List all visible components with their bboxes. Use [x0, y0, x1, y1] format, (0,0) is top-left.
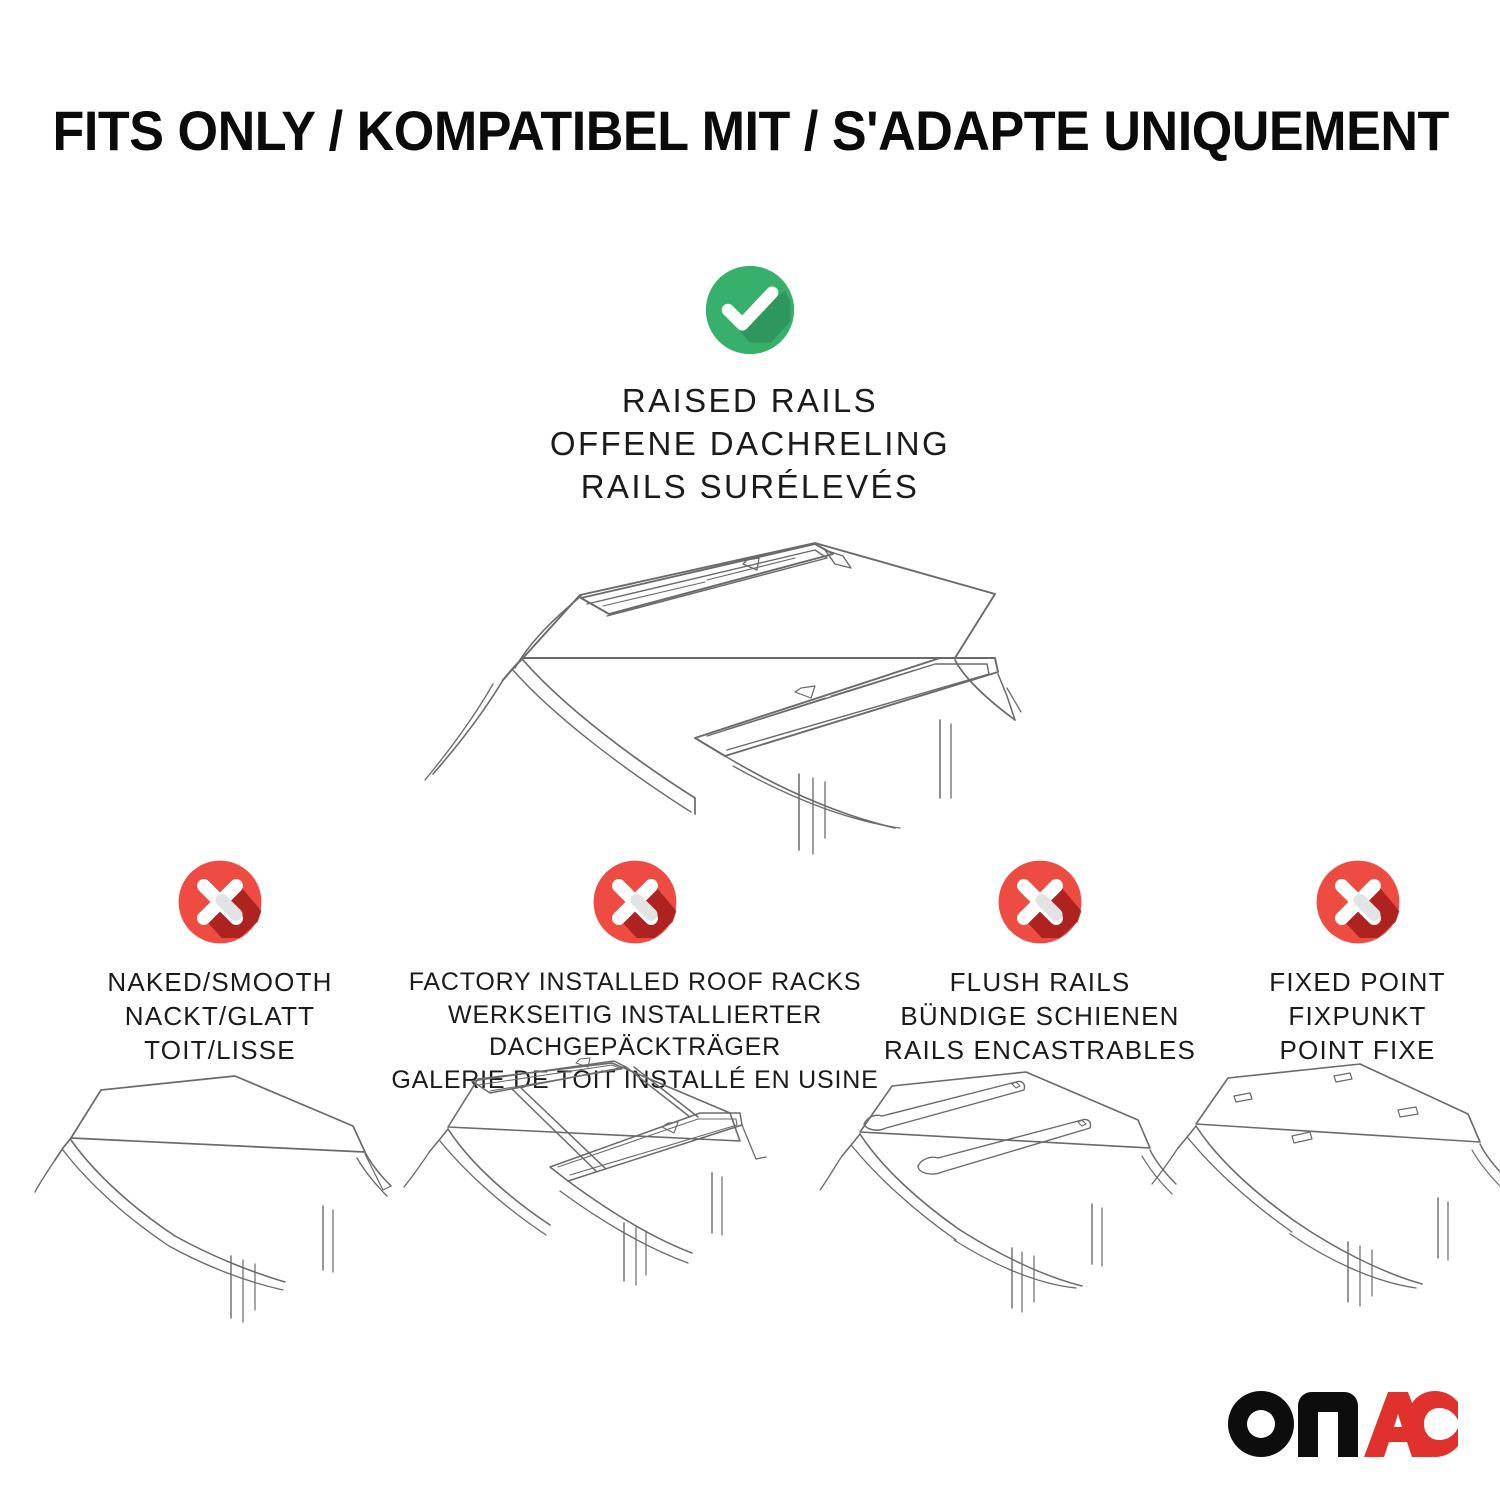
compatible-label-de: OFFENE DACHRELING	[0, 423, 1500, 466]
label-factory-racks-de1: WERKSEITIG INSTALLIERTER	[385, 999, 885, 1032]
labels-naked-smooth: NAKED/SMOOTH NACKT/GLATT TOIT/LISSE	[30, 966, 410, 1067]
cross-circle-icon	[995, 857, 1085, 947]
label-naked-smooth-en: NAKED/SMOOTH	[30, 966, 410, 1000]
cross-circle-icon-wrap-1	[385, 852, 885, 952]
omac-logo-icon	[1226, 1388, 1458, 1460]
check-circle-icon	[702, 262, 798, 358]
label-naked-smooth-de: NACKT/GLATT	[30, 1000, 410, 1034]
check-circle-icon-wrap	[0, 262, 1500, 358]
compatible-label-en: RAISED RAILS	[0, 380, 1500, 423]
page-title-bar: FITS ONLY / KOMPATIBEL MIT / S'ADAPTE UN…	[0, 98, 1500, 163]
cross-circle-icon	[590, 857, 680, 947]
compatible-section: RAISED RAILS OFFENE DACHRELING RAILS SUR…	[0, 262, 1500, 509]
incompatible-item-flush-rails: FLUSH RAILS BÜNDIGE SCHIENEN RAILS ENCAS…	[865, 852, 1215, 1067]
cross-circle-icon-wrap-0	[30, 852, 410, 952]
incompatible-item-fixed-point: FIXED POINT FIXPUNKT POINT FIXE	[1215, 852, 1500, 1067]
label-fixed-point-en: FIXED POINT	[1215, 966, 1500, 1000]
raised-rails-illustration	[395, 498, 1115, 828]
label-factory-racks-en: FACTORY INSTALLED ROOF RACKS	[385, 966, 885, 999]
fixed-point-illustration	[1150, 1058, 1500, 1288]
cross-circle-icon	[175, 857, 265, 947]
cross-circle-icon-wrap-3	[1215, 852, 1500, 952]
incompatible-item-naked-smooth: NAKED/SMOOTH NACKT/GLATT TOIT/LISSE	[30, 852, 410, 1067]
label-fixed-point-de: FIXPUNKT	[1215, 1000, 1500, 1034]
brand-logo	[1226, 1388, 1458, 1460]
cross-circle-icon-wrap-2	[865, 852, 1215, 952]
label-flush-rails-de: BÜNDIGE SCHIENEN	[865, 1000, 1215, 1034]
cross-circle-icon	[1313, 857, 1403, 947]
label-flush-rails-en: FLUSH RAILS	[865, 966, 1215, 1000]
compatible-labels: RAISED RAILS OFFENE DACHRELING RAILS SUR…	[0, 380, 1500, 509]
page-title: FITS ONLY / KOMPATIBEL MIT / S'ADAPTE UN…	[53, 98, 1449, 163]
labels-fixed-point: FIXED POINT FIXPUNKT POINT FIXE	[1215, 966, 1500, 1067]
naked-smooth-illustration	[35, 1060, 425, 1290]
factory-roof-racks-illustration	[400, 1055, 800, 1285]
labels-flush-rails: FLUSH RAILS BÜNDIGE SCHIENEN RAILS ENCAS…	[865, 966, 1215, 1067]
